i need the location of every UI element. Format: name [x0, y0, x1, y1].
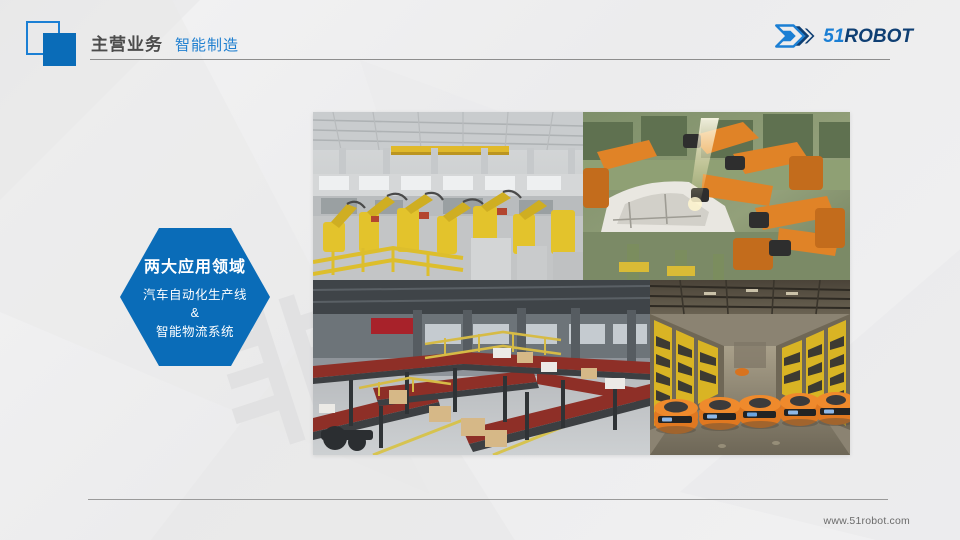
page-title-main: 主营业务 [91, 30, 163, 55]
photo-logistics-sorting-conveyor [313, 280, 650, 455]
page-title: 主营业务 智能制造 [91, 30, 239, 55]
company-logo: 51ROBOT [774, 21, 913, 51]
footer-divider [88, 499, 888, 500]
footer-website-url: www.51robot.com [824, 515, 910, 527]
photo-collage [313, 112, 850, 455]
photo-robotic-welding-line [583, 112, 850, 280]
slide-header: 主营业务 智能制造 51ROBOT [0, 0, 960, 72]
filled-square-icon [43, 33, 76, 66]
logo-chevron-icon [774, 21, 816, 51]
photo-automotive-robot-workshop [313, 112, 583, 280]
hexagon-line-3: 智能物流系统 [156, 323, 234, 341]
hexagon-line-2: & [191, 304, 200, 322]
logo-text-primary: 51 [823, 26, 844, 47]
slide-canvas: 非 主营业务 智能制造 51ROBOT 两大应用领域 [0, 0, 960, 540]
hexagon-line-1: 汽车自动化生产线 [143, 286, 247, 304]
hexagon-title: 两大应用领域 [144, 253, 246, 277]
header-divider [90, 59, 890, 60]
logo-text-secondary: ROBOT [844, 26, 913, 47]
page-title-sub: 智能制造 [175, 34, 239, 55]
application-fields-hexagon: 两大应用领域 汽车自动化生产线 & 智能物流系统 [120, 228, 270, 366]
logo-text: 51ROBOT [823, 27, 913, 46]
photo-agv-warehouse-robots [650, 280, 850, 455]
